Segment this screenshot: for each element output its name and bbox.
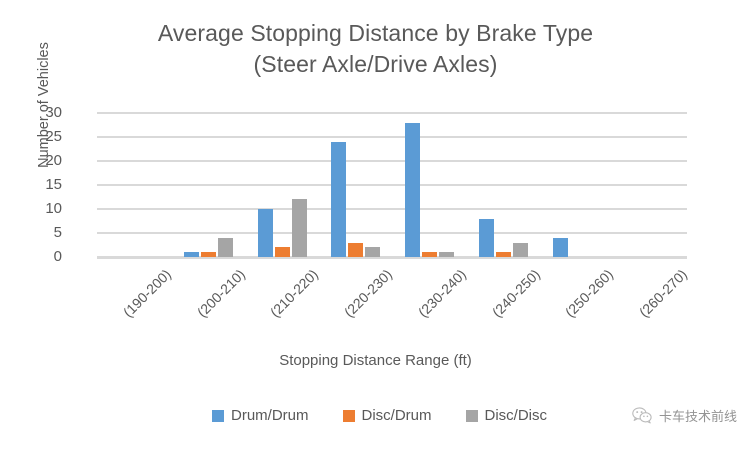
y-axis-tick-label: 0	[2, 249, 62, 264]
bar[interactable]	[258, 209, 273, 257]
watermark-text: 卡车技术前线	[659, 406, 737, 425]
bar-group	[540, 113, 614, 257]
chart-title-line-1: Average Stopping Distance by Brake Type	[158, 20, 593, 46]
bar-group	[466, 113, 540, 257]
wechat-icon	[632, 407, 652, 424]
legend-swatch	[343, 410, 355, 422]
x-axis-tick-label: (220-230)	[341, 266, 395, 320]
bar[interactable]	[365, 247, 380, 257]
x-axis-title: Stopping Distance Range (ft)	[0, 352, 751, 369]
x-axis-tick-label: (200-210)	[193, 266, 247, 320]
legend-item[interactable]: Disc/Drum	[343, 408, 432, 423]
y-axis-tick-label: 10	[2, 201, 62, 216]
legend-label: Disc/Disc	[485, 408, 548, 423]
bar-chart: Average Stopping Distance by Brake Type …	[0, 0, 751, 451]
bar-group	[245, 113, 319, 257]
legend-label: Disc/Drum	[362, 408, 432, 423]
x-axis-tick-label: (190-200)	[120, 266, 174, 320]
legend-item[interactable]: Drum/Drum	[212, 408, 309, 423]
x-axis-tick-label: (260-270)	[636, 266, 690, 320]
bar[interactable]	[348, 243, 363, 257]
legend-label: Drum/Drum	[231, 408, 309, 423]
legend-item[interactable]: Disc/Disc	[466, 408, 548, 423]
y-axis-tick-label: 15	[2, 177, 62, 192]
x-axis-tick-label: (210-220)	[267, 266, 321, 320]
x-axis-tick-label: (240-250)	[488, 266, 542, 320]
bar[interactable]	[479, 219, 494, 257]
watermark: 卡车技术前线	[632, 406, 737, 425]
bar-group	[97, 113, 171, 257]
x-axis-tick-label: (230-240)	[415, 266, 469, 320]
bar[interactable]	[218, 238, 233, 257]
bar[interactable]	[275, 247, 290, 257]
bar-group	[392, 113, 466, 257]
chart-title-line-2: (Steer Axle/Drive Axles)	[0, 49, 751, 80]
bar[interactable]	[553, 238, 568, 257]
bar-group	[171, 113, 245, 257]
plot-area	[97, 113, 687, 257]
y-axis-tick-label: 20	[2, 153, 62, 168]
bar[interactable]	[405, 123, 420, 257]
y-axis-tick-label: 25	[2, 129, 62, 144]
chart-title: Average Stopping Distance by Brake Type …	[0, 18, 751, 80]
bar[interactable]	[292, 199, 307, 257]
x-axis-line	[97, 257, 687, 259]
legend-swatch	[466, 410, 478, 422]
x-axis-tick-label: (250-260)	[562, 266, 616, 320]
bar-group	[318, 113, 392, 257]
y-axis-tick-label: 5	[2, 225, 62, 240]
legend-swatch	[212, 410, 224, 422]
bar[interactable]	[513, 243, 528, 257]
y-axis-tick-label: 30	[2, 105, 62, 120]
bar[interactable]	[331, 142, 346, 257]
bar-group	[613, 113, 687, 257]
